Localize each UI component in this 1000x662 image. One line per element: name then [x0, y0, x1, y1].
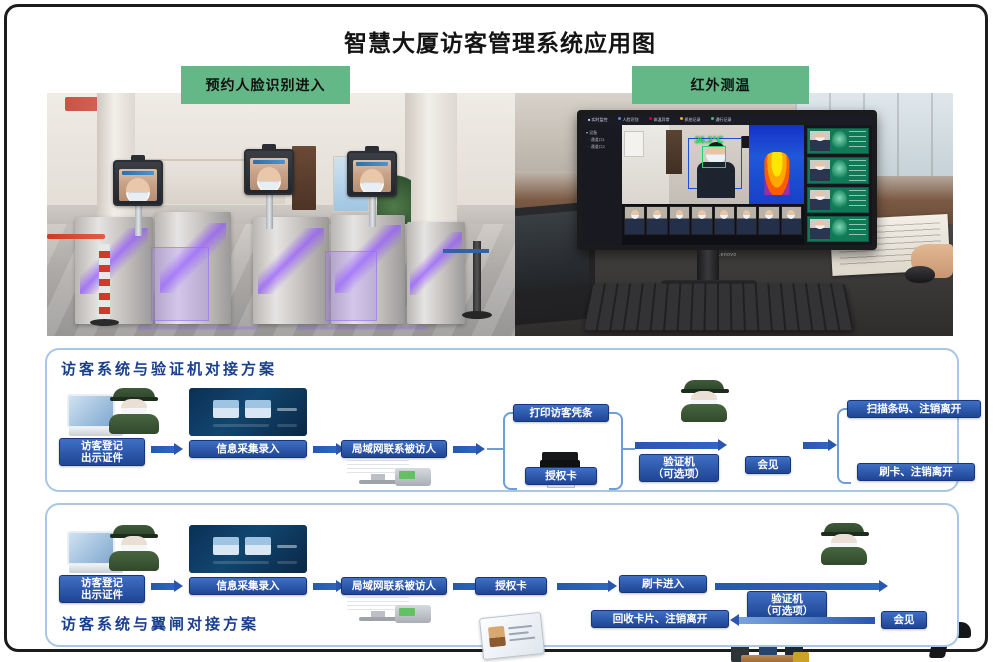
arrow-register-to-capture: [151, 446, 175, 453]
arrow-card-to-swipe: [557, 583, 609, 590]
photo-infrared-temperature: ■ 实时监控 人脸识别 体温异常 抓拍记录 通行记录 ▾ 设备 · 通道口1 ·…: [515, 93, 953, 336]
capture-thumbnail[interactable]: [646, 206, 667, 234]
queue-tape: [443, 249, 489, 253]
label-authorization-card: 授权卡: [525, 467, 597, 485]
capture-thumbnail[interactable]: [736, 206, 757, 234]
label-visitor-register: 访客登记 出示证件: [59, 438, 145, 466]
information-capture-icon: [189, 525, 307, 573]
camera-icon: [262, 144, 276, 151]
page-title: 智慧大厦访客管理系统应用图: [0, 24, 1000, 58]
security-guard-icon: [109, 388, 159, 434]
thermal-imaging-view: [749, 125, 804, 204]
lobby-door: [292, 146, 316, 209]
face-recognition-terminal: [244, 149, 294, 229]
gate-wing-panel: [151, 247, 209, 322]
arrow-meeting-to-exit: [803, 442, 829, 449]
label-meeting: 会见: [881, 611, 927, 629]
capture-thumbnail[interactable]: [691, 206, 712, 234]
face-recognition-terminal: [347, 151, 397, 227]
registration-desk-icon: [67, 384, 159, 436]
arrow-lan-to-branch: [453, 446, 477, 453]
arrow-register-to-capture: [151, 583, 175, 590]
office-scene: ■ 实时监控 人脸识别 体温异常 抓拍记录 通行记录 ▾ 设备 · 通道口1 ·…: [515, 93, 953, 336]
exit-branch-split: [837, 408, 851, 484]
capture-thumbnail-strip: [622, 204, 804, 245]
capture-thumbnail[interactable]: [758, 206, 779, 234]
software-toolbar: ■ 实时监控 人脸识别 体温异常 抓拍记录 通行记录: [582, 115, 872, 125]
device-tree-panel: ▾ 设备 · 通道口1 · 通道口2: [582, 125, 622, 245]
capture-thumbnail[interactable]: [624, 206, 645, 234]
diagram-panel-wing-gate: 访客系统与翼闸对接方案 访客登记 出示证件 信息采集录入 局域网联系被访人: [45, 503, 959, 647]
recognition-records-panel: [804, 125, 872, 245]
slide-page: 智慧大厦访客管理系统应用图: [0, 0, 1000, 662]
gate-wing-panel: [325, 251, 377, 321]
label-swipe-card-enter: 刷卡进入: [619, 575, 707, 593]
face-recognition-terminal: [113, 160, 163, 236]
capture-thumbnail[interactable]: [781, 206, 802, 234]
arrow-swipe-to-verifier: [715, 583, 880, 590]
authorization-card-icon: [479, 612, 545, 660]
queue-tape: [47, 234, 105, 239]
thermal-software-window: ■ 实时监控 人脸识别 体温异常 抓拍记录 通行记录 ▾ 设备 · 通道口1 ·…: [582, 115, 872, 245]
branch-merge-right: [609, 412, 623, 490]
label-print-visitor-slip: 打印访客凭条: [513, 404, 609, 422]
barrier-pole: [99, 244, 110, 322]
label-recycle-card-leave: 回收卡片、注销离开: [591, 610, 729, 628]
panel1-title: 访客系统与验证机对接方案: [61, 358, 277, 379]
capture-thumbnail[interactable]: [669, 206, 690, 234]
banner-face-recognition: 预约人脸识别进入: [181, 66, 350, 104]
information-capture-icon: [189, 388, 307, 436]
branch-connector: [487, 448, 503, 450]
arrow-capture-to-lan: [313, 583, 337, 590]
camera-icon: [131, 155, 145, 162]
diagram-panel-verifier: 访客系统与验证机对接方案 访客登记 出示证件 信息采集录入 局域网联系被访人: [45, 348, 959, 492]
label-scan-barcode-leave: 扫描条码、注销离开: [847, 400, 981, 418]
label-lan-contact-host: 局域网联系被访人: [341, 577, 447, 595]
turnstile-gate: [407, 222, 465, 324]
label-swipe-card-leave: 刷卡、注销离开: [857, 463, 975, 481]
label-lan-contact-host: 局域网联系被访人: [341, 440, 447, 458]
security-guard-icon: [821, 523, 867, 565]
label-verification-machine: 验证机 （可选项）: [747, 591, 827, 619]
label-visitor-register: 访客登记 出示证件: [59, 575, 145, 603]
keyboard: [584, 283, 854, 330]
security-guard-icon: [109, 525, 159, 571]
arrow-to-meeting: [635, 442, 719, 449]
branch-split-left: [503, 412, 517, 490]
label-meeting: 会见: [745, 456, 791, 474]
registration-desk-icon: [67, 521, 159, 573]
led-glow: [137, 327, 257, 329]
label-verification-machine: 验证机 （可选项）: [639, 454, 719, 482]
recognition-record-card[interactable]: [807, 216, 869, 242]
label-authorization-card: 授权卡: [475, 577, 547, 595]
recognition-record-card[interactable]: [807, 157, 869, 183]
visible-light-view: 36.3℃: [622, 125, 804, 204]
led-glow: [297, 327, 427, 329]
banner-infrared-temperature: 红外测温: [632, 66, 809, 104]
turnstile-gate: [253, 217, 329, 324]
arrow-capture-to-lan: [313, 446, 337, 453]
recognition-record-card[interactable]: [807, 128, 869, 154]
desktop-monitor: ■ 实时监控 人脸识别 体温异常 抓拍记录 通行记录 ▾ 设备 · 通道口1 ·…: [577, 110, 877, 250]
monitor-stand: [697, 250, 719, 282]
photo-lobby-face-recognition: [47, 93, 515, 336]
arrow-return-to-recycle: [739, 617, 875, 624]
label-information-capture: 信息采集录入: [189, 577, 307, 595]
panel2-title: 访客系统与翼闸对接方案: [61, 613, 259, 634]
branch-connector: [621, 448, 635, 450]
computer-mouse: [905, 266, 935, 283]
temperature-reading: 36.3℃: [695, 135, 723, 146]
live-view-panel: 36.3℃: [622, 125, 804, 245]
recognition-record-card[interactable]: [807, 187, 869, 213]
photo-row: ■ 实时监控 人脸识别 体温异常 抓拍记录 通行记录 ▾ 设备 · 通道口1 ·…: [47, 93, 953, 336]
security-guard-icon: [681, 380, 727, 422]
lobby-scene: [47, 93, 515, 336]
monitor-brand-label: Lenovo: [717, 252, 736, 258]
label-information-capture: 信息采集录入: [189, 440, 307, 458]
capture-thumbnail[interactable]: [714, 206, 735, 234]
camera-icon: [365, 146, 379, 153]
face-detection-box: [702, 146, 726, 168]
